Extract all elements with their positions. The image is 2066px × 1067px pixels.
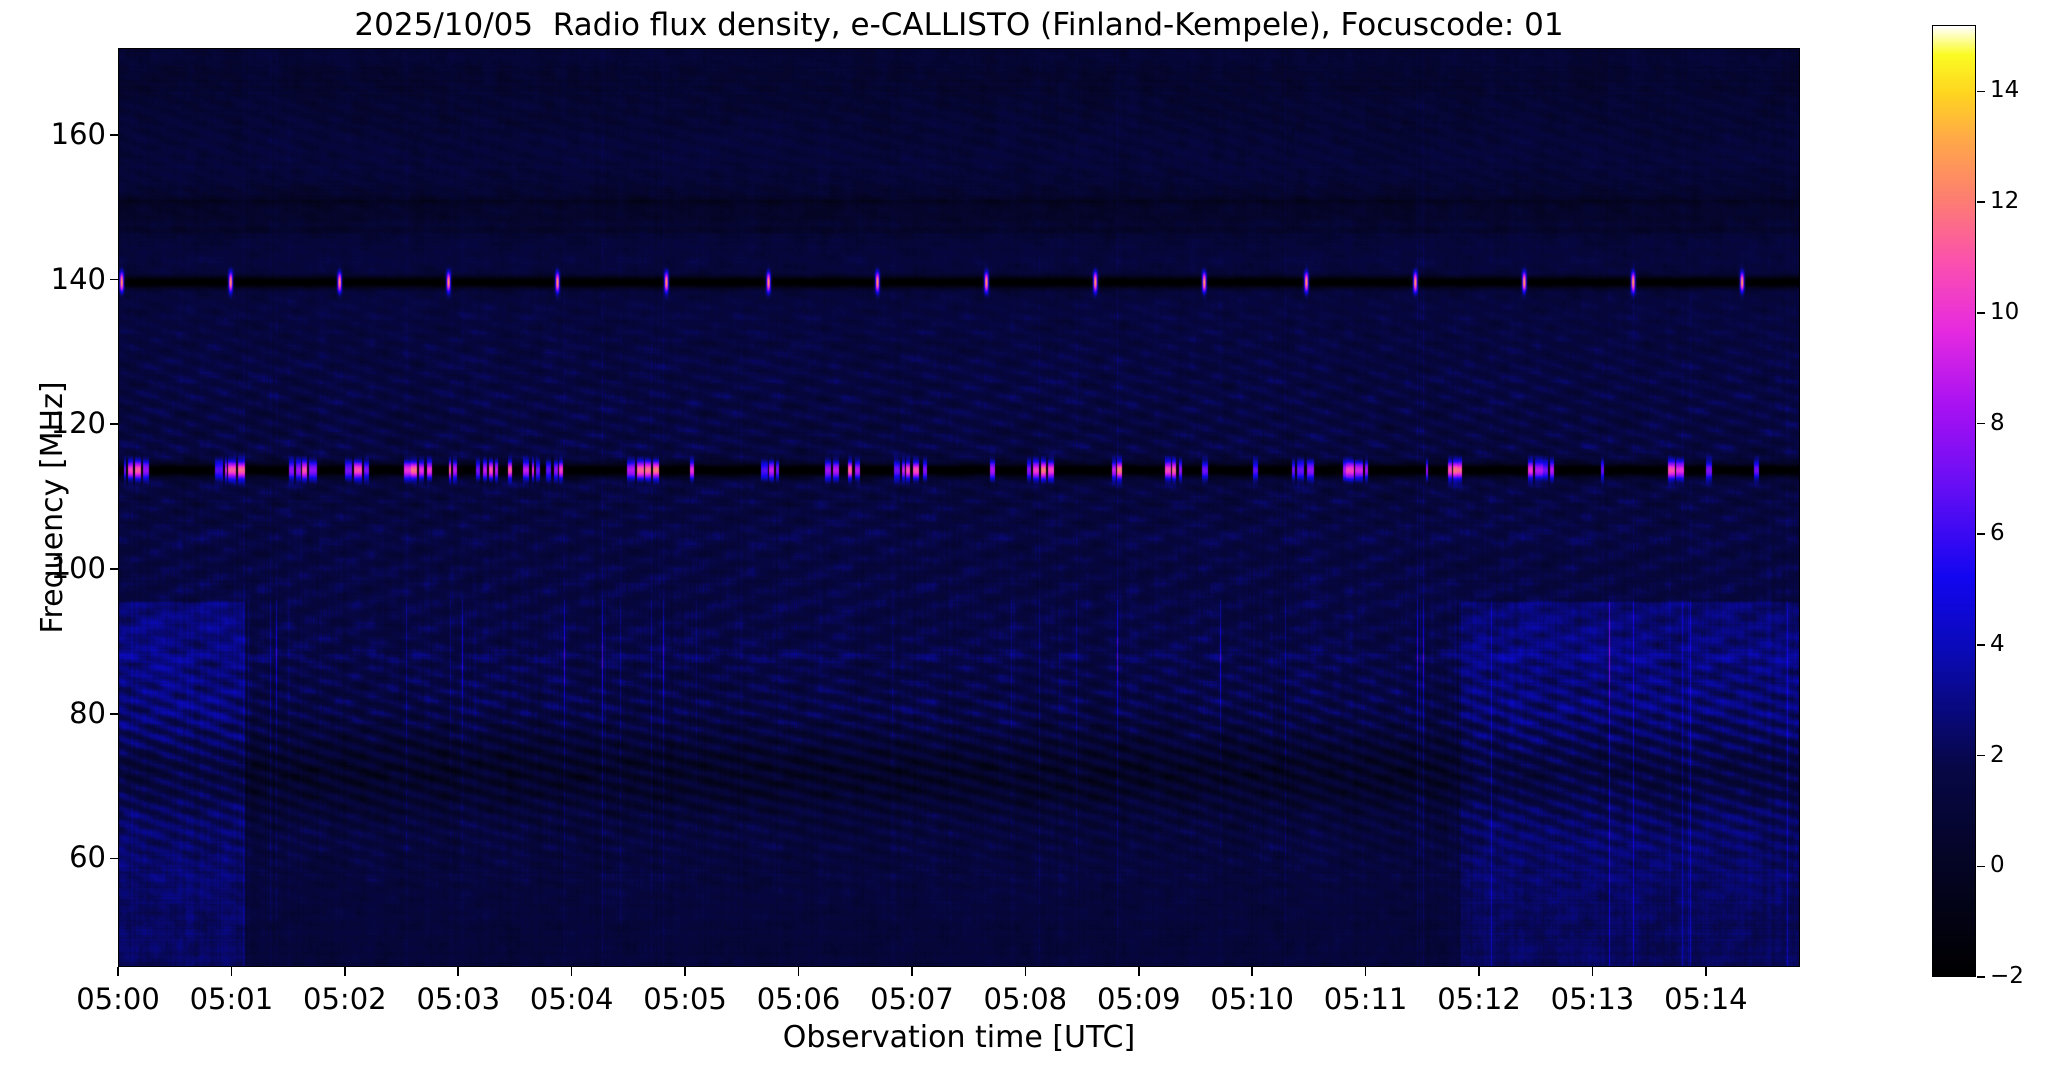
colorbar-gradient <box>1933 26 1976 977</box>
x-axis-tick-mark <box>571 967 573 976</box>
colorbar-tick-label: 8 <box>1990 412 2005 435</box>
colorbar-tick-label: 14 <box>1990 79 2019 102</box>
colorbar-label: dB above background <box>2060 25 2066 977</box>
x-axis-tick-label: 05:14 <box>1626 983 1786 1015</box>
x-axis-tick-mark <box>798 967 800 976</box>
spectrogram-image <box>119 49 1800 967</box>
x-axis-tick-mark <box>1592 967 1594 976</box>
colorbar-tick-label: 12 <box>1990 190 2019 213</box>
y-axis-tick-label: 140 <box>0 265 106 294</box>
x-axis-label: Observation time [UTC] <box>118 1020 1800 1056</box>
colorbar-tick-mark <box>1977 312 1985 314</box>
x-axis-tick-mark <box>911 967 913 976</box>
colorbar-tick-label: 10 <box>1990 301 2019 324</box>
y-axis-tick-mark <box>110 134 119 136</box>
spectrogram-figure: 2025/10/05 Radio flux density, e-CALLIST… <box>0 0 2066 1067</box>
colorbar-tick-mark <box>1977 755 1985 757</box>
y-axis-tick-label: 120 <box>0 409 106 438</box>
y-axis-tick-label: 60 <box>0 843 106 872</box>
y-axis-tick-mark <box>110 713 119 715</box>
y-axis-tick-mark <box>110 423 119 425</box>
x-axis-tick-mark <box>684 967 686 976</box>
y-axis-tick-label: 80 <box>0 699 106 728</box>
colorbar-tick-label: 0 <box>1990 854 2005 877</box>
x-axis-tick-mark <box>1705 967 1707 976</box>
x-axis-tick-mark <box>1138 967 1140 976</box>
y-axis-tick-label: 160 <box>0 120 106 149</box>
colorbar-tick-mark <box>1977 866 1985 868</box>
colorbar-tick-mark <box>1977 91 1985 93</box>
x-axis-tick-mark <box>1478 967 1480 976</box>
colorbar-tick-mark <box>1977 644 1985 646</box>
page-title: 2025/10/05 Radio flux density, e-CALLIST… <box>118 6 1800 44</box>
y-axis-tick-mark <box>110 858 119 860</box>
x-axis-tick-mark <box>1365 967 1367 976</box>
colorbar-tick-mark <box>1977 976 1985 978</box>
spectrogram-axes <box>118 48 1800 967</box>
colorbar-tick-mark <box>1977 423 1985 425</box>
y-axis-tick-mark <box>110 568 119 570</box>
colorbar-tick-mark <box>1977 533 1985 535</box>
colorbar-tick-mark <box>1977 201 1985 203</box>
x-axis-tick-mark <box>1025 967 1027 976</box>
colorbar <box>1932 25 1976 977</box>
x-axis-tick-mark <box>117 967 119 976</box>
x-axis-tick-mark <box>457 967 459 976</box>
x-axis-tick-mark <box>1251 967 1253 976</box>
colorbar-tick-label: −2 <box>1990 965 2024 988</box>
y-axis-tick-label: 100 <box>0 554 106 583</box>
y-axis-label: Frequency [MHz] <box>28 48 78 967</box>
x-axis-tick-mark <box>344 967 346 976</box>
colorbar-tick-label: 4 <box>1990 633 2005 656</box>
x-axis-tick-mark <box>231 967 233 976</box>
colorbar-tick-label: 2 <box>1990 744 2005 767</box>
y-axis-tick-mark <box>110 279 119 281</box>
colorbar-tick-label: 6 <box>1990 522 2005 545</box>
